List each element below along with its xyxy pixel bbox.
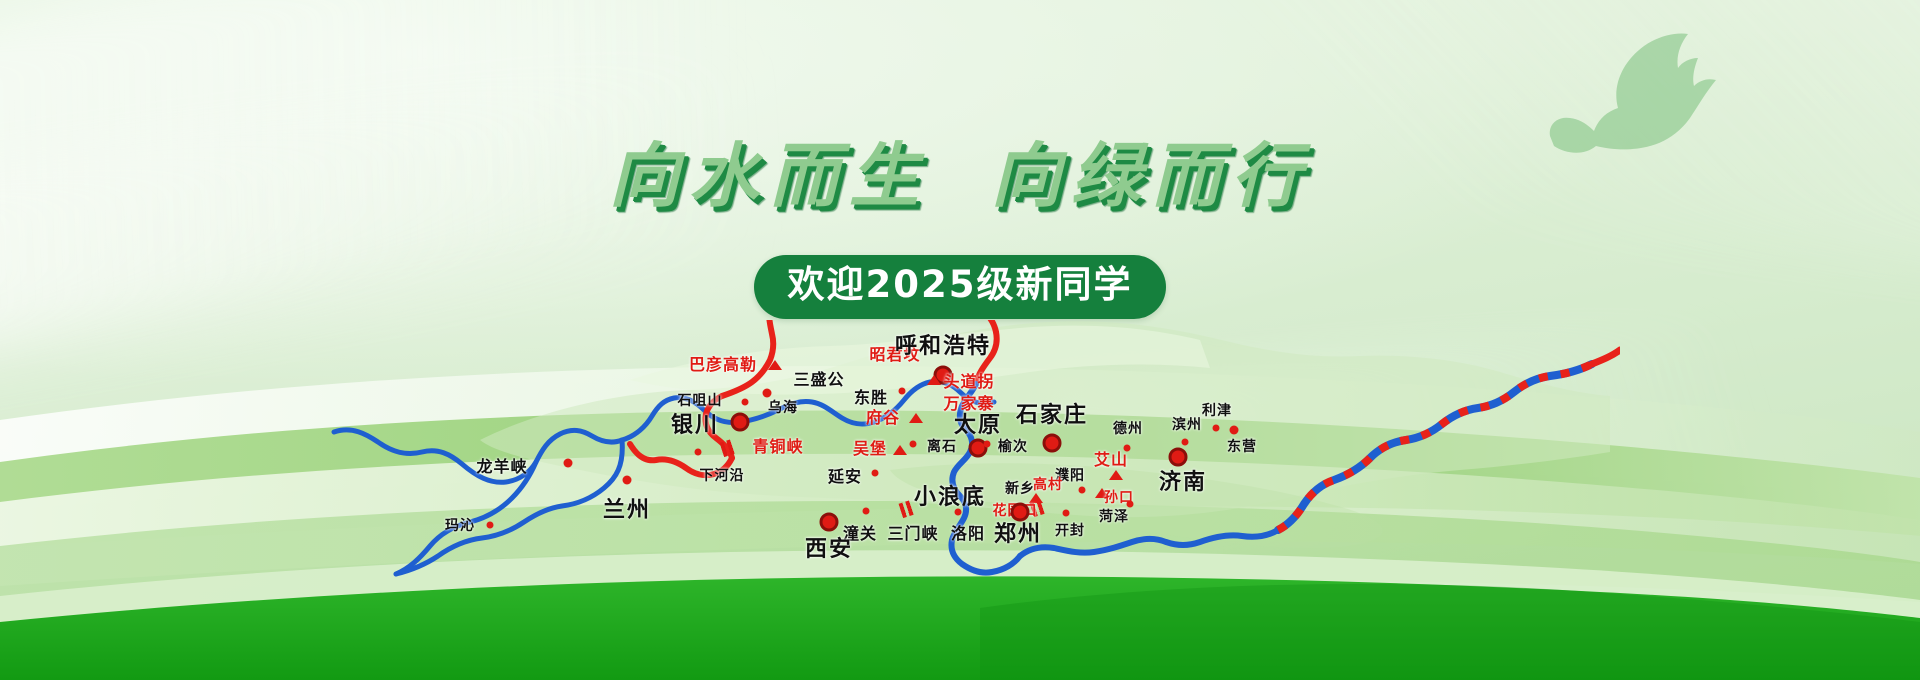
- map-label: 呼和浩特: [895, 328, 991, 360]
- map-marker-8: [768, 360, 782, 370]
- map-marker-2: [623, 476, 632, 485]
- map-label: 玛沁: [445, 515, 475, 535]
- map-marker-1: [564, 459, 573, 468]
- map-marker-21: [872, 470, 879, 477]
- map-marker-23: [1182, 439, 1189, 446]
- map-marker-35: [1063, 510, 1070, 517]
- map-marker-27: [1109, 470, 1123, 480]
- map-marker-20: [893, 445, 907, 455]
- map-marker-13: [927, 375, 941, 385]
- map-label: 开封: [1055, 520, 1085, 540]
- headline-part-1: 向水而生: [609, 135, 929, 217]
- map-label: 兰州: [603, 492, 651, 524]
- map-label: 小浪底: [914, 479, 986, 511]
- map-marker-0: [487, 522, 494, 529]
- map-label: 新乡: [1005, 478, 1035, 498]
- map-label: 高村: [1033, 474, 1063, 494]
- map-label: 三门峡: [887, 520, 938, 544]
- map-label: 青铜峡: [752, 433, 803, 457]
- map-marker-19: [984, 441, 991, 448]
- map-label: 榆次: [998, 436, 1028, 456]
- map-label: 石家庄: [1016, 397, 1088, 429]
- map-marker-12: [899, 388, 906, 395]
- map-label: 下河沿: [700, 465, 745, 485]
- map-label: 离石: [927, 436, 957, 456]
- map-label: 延安: [828, 463, 862, 487]
- map-marker-4: [731, 413, 750, 432]
- map-marker-3: [695, 449, 702, 456]
- headline-part-2: 向绿而行: [991, 135, 1311, 217]
- welcome-badge: 欢迎2025级新同学: [754, 255, 1167, 319]
- map-label: 滨州: [1172, 414, 1202, 434]
- map-label: 德州: [1113, 418, 1143, 438]
- map-label: 太原: [954, 407, 1002, 439]
- map-marker-39: [863, 508, 870, 515]
- map-label: 菏泽: [1099, 506, 1129, 526]
- map-label: 石咀山: [678, 390, 723, 410]
- map-label: 郑州: [994, 516, 1042, 548]
- yellow-river-map: 玛沁龙羊峡兰州下河沿银川石咀山青铜峡乌海巴彦高勒三盛公昭君坟呼和浩特东胜头道拐万…: [330, 320, 1620, 620]
- map-marker-15: [909, 413, 923, 423]
- map-marker-25: [1230, 426, 1239, 435]
- map-label: 银川: [671, 407, 719, 439]
- map-label: 西安: [805, 531, 853, 563]
- map-marker-5: [742, 399, 749, 406]
- map-label: 利津: [1202, 400, 1232, 420]
- map-marker-40: [820, 513, 839, 532]
- map-marker-24: [1213, 425, 1220, 432]
- map-marker-18: [910, 441, 917, 448]
- map-label: 龙羊峡: [476, 453, 527, 477]
- map-marker-17: [1043, 434, 1062, 453]
- map-label: 巴彦高勒: [689, 351, 757, 375]
- map-label: 艾山: [1094, 446, 1128, 470]
- map-marker-37: [955, 509, 962, 516]
- map-label: 乌海: [768, 397, 798, 417]
- map-marker-28: [1079, 487, 1086, 494]
- map-label: 头道拐: [943, 368, 994, 392]
- map-label: 府谷: [866, 404, 900, 428]
- map-label: 洛阳: [951, 520, 985, 544]
- map-label: 济南: [1159, 464, 1207, 496]
- page-title: 向水而生向绿而行: [0, 120, 1920, 221]
- map-label: 东营: [1227, 436, 1257, 456]
- welcome-banner: 向水而生向绿而行 欢迎2025级新同学: [0, 0, 1920, 680]
- map-label: 三盛公: [793, 366, 844, 390]
- map-label: 吴堡: [853, 435, 887, 459]
- badge-container: 欢迎2025级新同学: [0, 255, 1920, 319]
